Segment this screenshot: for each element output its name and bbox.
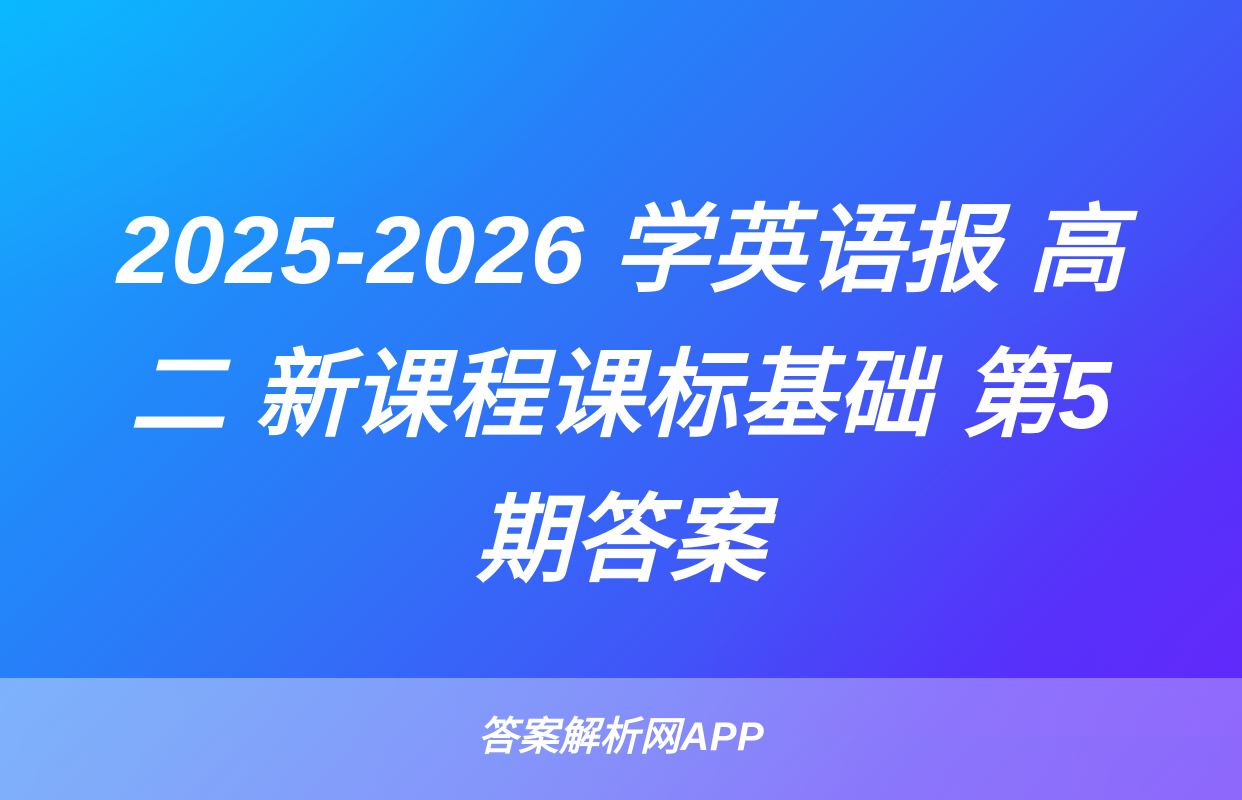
footer-brand-band: 答案解析网APP [0, 678, 1242, 800]
title-line-1: 2025-2026 学英语报 高 [56, 178, 1186, 323]
title-line-2: 二 新课程课标基础 第5 [56, 323, 1186, 468]
app-brand-label: 答案解析网APP [478, 717, 764, 757]
page-title: 2025-2026 学英语报 高 二 新课程课标基础 第5 期答案 [0, 178, 1242, 613]
answer-banner-card: 2025-2026 学英语报 高 二 新课程课标基础 第5 期答案 答案解析网A… [0, 0, 1242, 800]
title-line-3: 期答案 [56, 468, 1186, 613]
